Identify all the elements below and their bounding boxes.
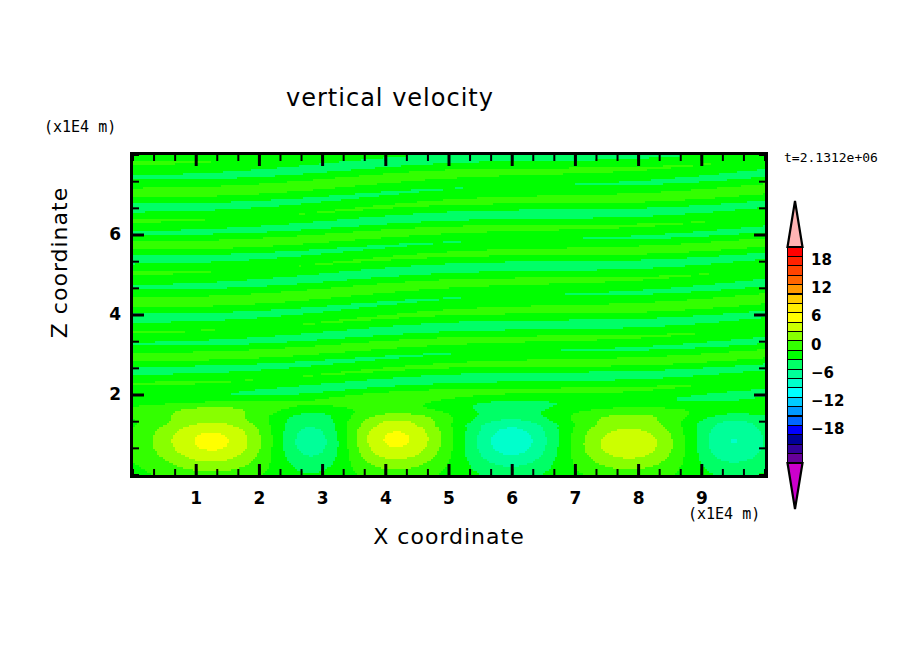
colorbar-tick-label: 12 — [811, 279, 832, 297]
colorbar-tick-label: −12 — [811, 392, 844, 410]
colorbar-tick-label: 0 — [811, 336, 821, 354]
x-tick-label: 4 — [371, 488, 401, 508]
colorbar-tick-label: 18 — [811, 251, 832, 269]
colorbar-tick-label: −6 — [811, 364, 834, 382]
x-tick-label: 3 — [308, 488, 338, 508]
figure-canvas: vertical velocity (x1E4 m) t=2.1312e+06 … — [0, 0, 904, 654]
x-tick-label: 1 — [181, 488, 211, 508]
colorbar-tick-label: 6 — [811, 307, 821, 325]
y-tick-label: 2 — [91, 384, 121, 404]
x-tick-label: 9 — [687, 488, 717, 508]
colorbar-tick-label: −18 — [811, 420, 844, 438]
x-tick-label: 6 — [497, 488, 527, 508]
x-tick-label: 7 — [560, 488, 590, 508]
x-tick-label: 2 — [244, 488, 274, 508]
x-tick-label: 5 — [434, 488, 464, 508]
contour-plot — [0, 0, 904, 654]
y-tick-label: 6 — [91, 224, 121, 244]
x-tick-label: 8 — [624, 488, 654, 508]
y-tick-label: 4 — [91, 304, 121, 324]
